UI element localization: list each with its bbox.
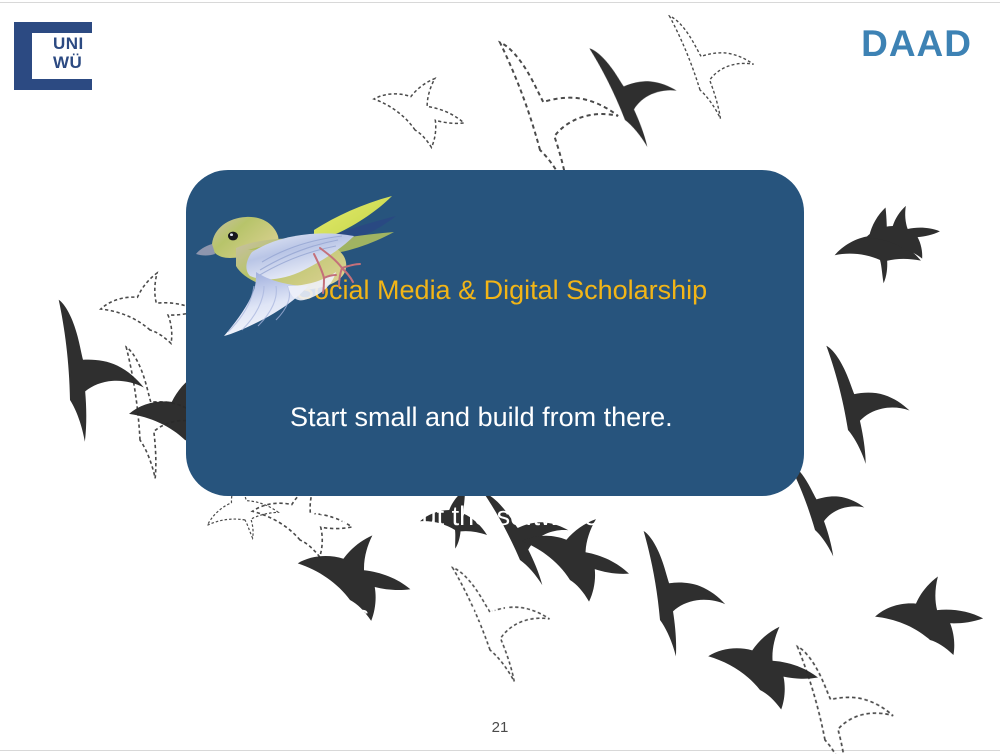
- slide-bottom-border: [0, 750, 1000, 751]
- uni-logo-wordmark: UNI WÜ: [53, 34, 84, 72]
- daad-logo: DAAD: [861, 23, 972, 65]
- slide-canvas: UNI WÜ DAAD Social Media & Digital Schol…: [0, 0, 1000, 754]
- content-panel: Social Media & Digital Scholarship Start…: [186, 170, 804, 496]
- panel-title: Social Media & Digital Scholarship: [296, 275, 707, 306]
- page-number: 21: [0, 719, 1000, 736]
- slide-top-border: [0, 2, 1000, 3]
- panel-body: Start small and build from there. It’s n…: [290, 335, 734, 698]
- body-line-1: Start small and build from there.: [290, 401, 734, 434]
- body-line-3: … it’s about YOU.: [290, 599, 734, 632]
- uni-wuerzburg-logo: UNI WÜ: [14, 22, 92, 90]
- body-line-2: It’s not about the software, hardware,: [290, 500, 734, 533]
